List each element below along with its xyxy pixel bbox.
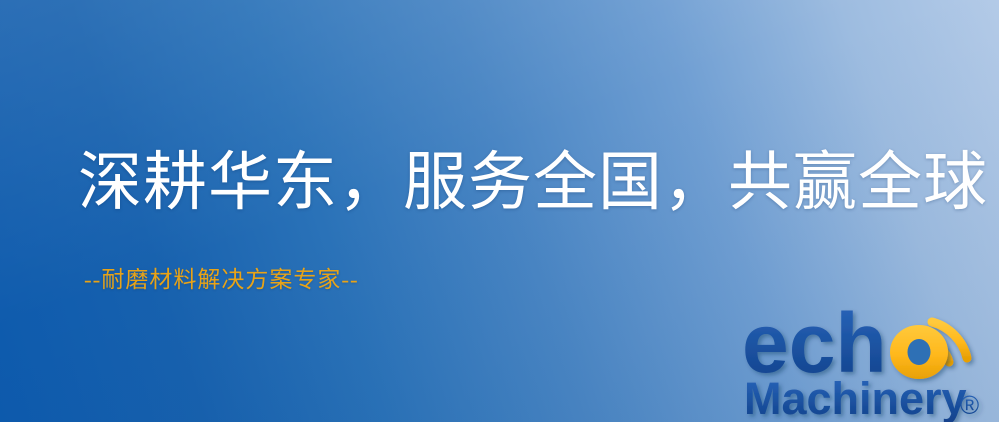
promotional-banner: 深耕华东，服务全国，共赢全球 --耐磨材料解决方案专家-- [0,0,999,422]
echo-machinery-logo: ech Machinery ® [742,296,994,422]
banner-headline: 深耕华东，服务全国，共赢全球 [78,147,988,219]
logo-wordmark-o [890,325,948,379]
logo-wordmark-machinery: Machinery [744,373,967,422]
logo-trademark-symbol: ® [960,390,979,420]
banner-subtitle: --耐磨材料解决方案专家-- [84,266,359,294]
